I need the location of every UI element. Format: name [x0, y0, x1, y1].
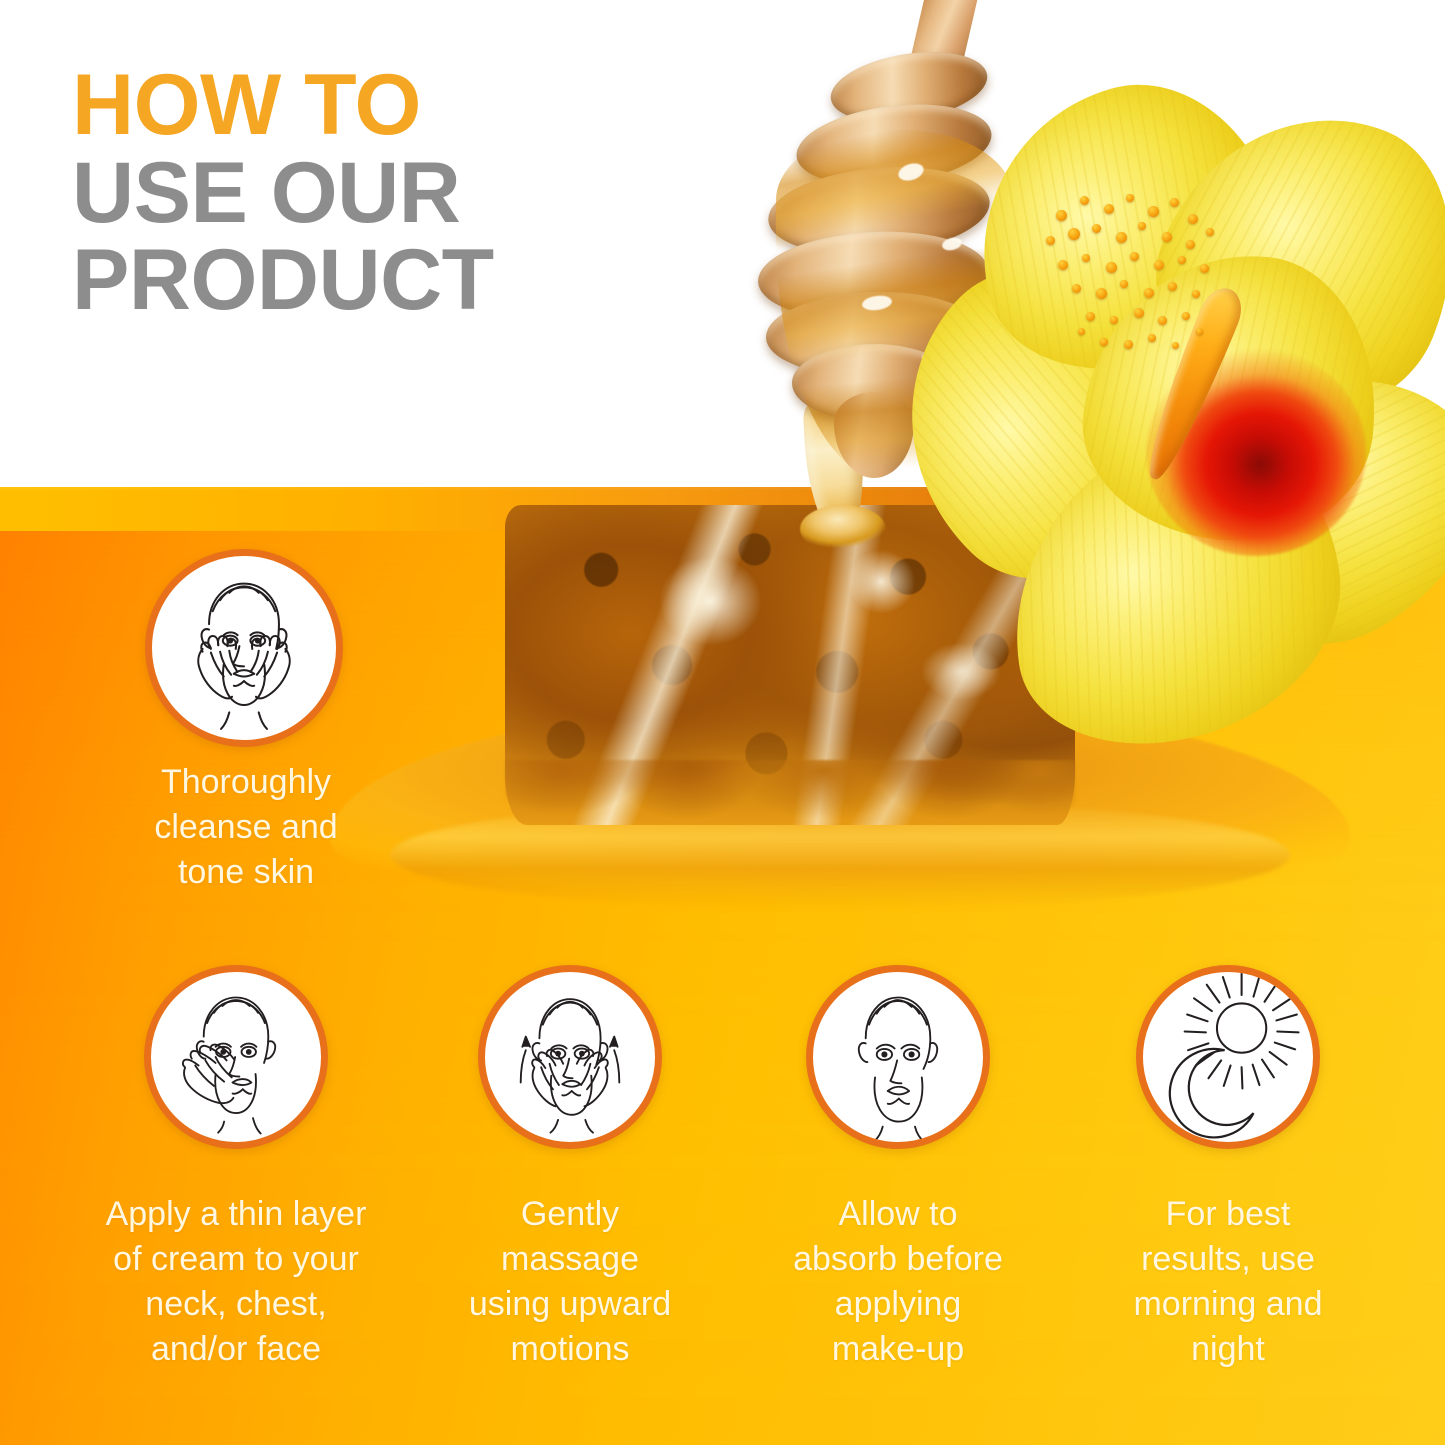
- step-caption-day-night: For best results, use morning and night: [1060, 1192, 1396, 1372]
- step-caption-massage: Gently massage using upward motions: [408, 1192, 732, 1372]
- title-line-product: PRODUCT: [72, 237, 632, 325]
- title-line-how: HOW TO: [72, 62, 632, 150]
- sun-and-moon-icon: [1143, 972, 1313, 1142]
- face-plain-absorb-icon: [813, 972, 983, 1142]
- how-to-use-infographic: HOW TO USE OUR PRODUCT: [0, 0, 1445, 1445]
- step-caption-absorb: Allow to absorb before applying make-up: [726, 1192, 1070, 1372]
- title-line-use-our: USE OUR: [72, 150, 632, 238]
- face-massage-upward-arrows-icon: [485, 972, 655, 1142]
- step-caption-apply-cream: Apply a thin layer of cream to your neck…: [56, 1192, 416, 1372]
- honey-drip-pool: [800, 505, 886, 553]
- step-icon-apply-cream: [144, 965, 328, 1149]
- hibiscus-flower: [890, 86, 1445, 826]
- step-icon-day-night: [1136, 965, 1320, 1149]
- face-cleanse-two-hands-icon: [152, 556, 336, 740]
- step-icon-cleanse: [145, 549, 343, 747]
- face-apply-cream-one-hand-icon: [151, 972, 321, 1142]
- step-caption-cleanse: Thoroughly cleanse and tone skin: [86, 760, 406, 895]
- page-title: HOW TO USE OUR PRODUCT: [72, 62, 632, 325]
- pollen-cluster: [1038, 188, 1248, 376]
- step-icon-massage: [478, 965, 662, 1149]
- step-icon-absorb: [806, 965, 990, 1149]
